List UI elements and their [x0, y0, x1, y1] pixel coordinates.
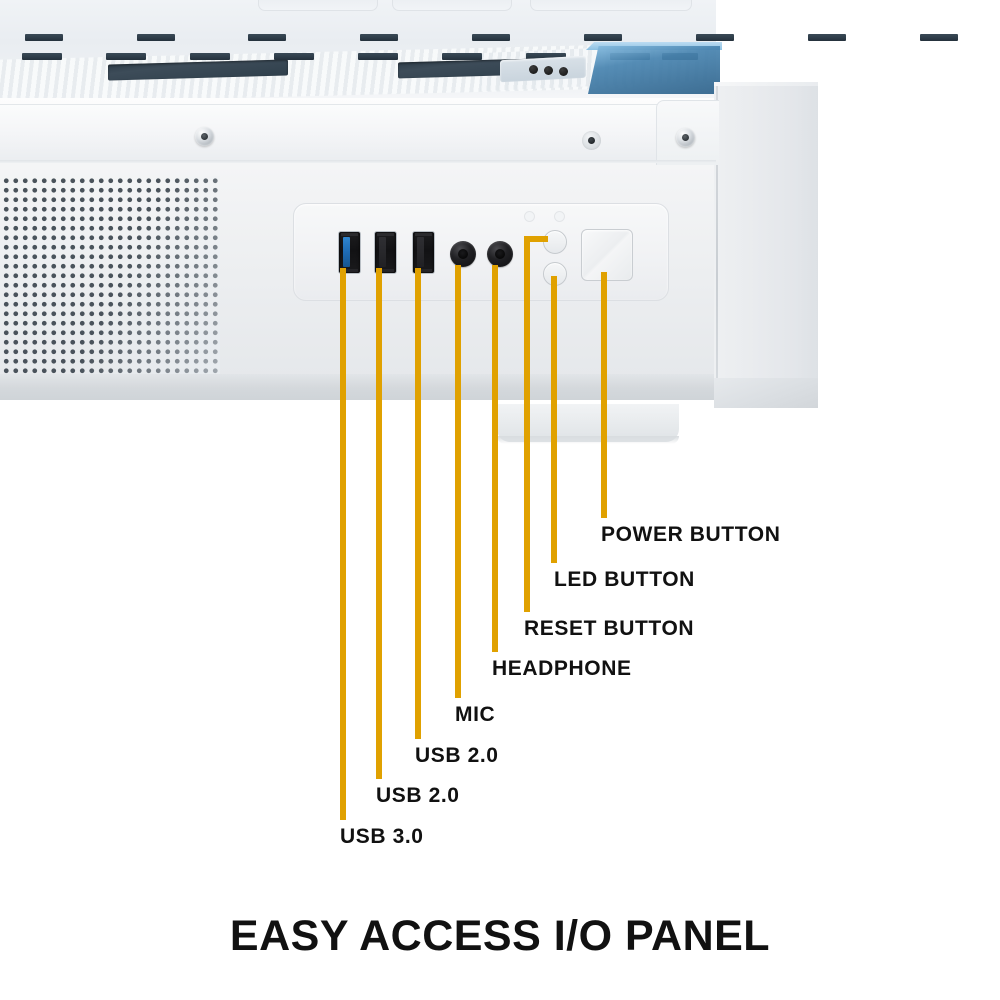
usb-tongue: [417, 237, 424, 267]
vent-dash-icon: [22, 53, 62, 60]
usb-notch-top: [377, 233, 394, 236]
led-indicator-icon: [554, 211, 565, 222]
vent-dash-icon: [358, 53, 398, 60]
page-title: EASY ACCESS I/O PANEL: [0, 912, 1000, 961]
callout-label-mic: MIC: [455, 704, 495, 725]
callout-label-usb-2-0-a: USB 2.0: [376, 785, 460, 806]
connector-dot-icon: [529, 65, 538, 74]
thumbscrew-icon: [195, 127, 214, 146]
leader-line-power-button: [601, 272, 607, 518]
vent-dash-icon: [106, 53, 146, 60]
vent-dash-icon: [808, 34, 846, 41]
case-frame-rail: [0, 104, 716, 163]
vent-dash-icon: [137, 34, 175, 41]
vent-dash-icon: [248, 34, 286, 41]
connector-dot-icon: [559, 67, 568, 76]
case-side-bevel: [714, 378, 818, 408]
leader-line-led-button: [551, 276, 557, 563]
usb-tongue-blue: [343, 237, 350, 267]
perforated-mesh-panel: [0, 176, 220, 374]
vent-dash-icon: [25, 34, 63, 41]
leader-line-usb-3-0: [340, 268, 346, 820]
case-body-bottom-shadow: [0, 374, 720, 400]
callout-label-headphone: HEADPHONE: [492, 658, 632, 679]
blue-tinted-window: [588, 46, 720, 94]
case-frame-rail-edge: [0, 160, 716, 163]
vent-dash-icon: [442, 53, 482, 60]
callout-label-usb-2-0-b: USB 2.0: [415, 745, 499, 766]
callout-label-usb-3-0: USB 3.0: [340, 826, 424, 847]
vent-dash-icon: [584, 34, 622, 41]
usb-tongue: [379, 237, 386, 267]
vent-dash-icon: [360, 34, 398, 41]
headphone-jack[interactable]: [487, 241, 513, 267]
vent-dash-icon: [920, 34, 958, 41]
led-indicator-icon: [524, 211, 535, 222]
usb-notch-top: [341, 233, 358, 236]
mic-jack[interactable]: [450, 241, 476, 267]
reset-button[interactable]: [543, 230, 567, 254]
power-button[interactable]: [581, 229, 633, 281]
vent-dash-icon: [472, 34, 510, 41]
vent-dash-icon: [190, 53, 230, 60]
front-panel-connector-block: [500, 56, 586, 83]
callout-label-led-button: LED BUTTON: [554, 569, 695, 590]
slot-cover-icon: [392, 0, 512, 11]
callout-label-power-button: POWER BUTTON: [601, 524, 780, 545]
leader-line-usb-2-0-a: [376, 268, 382, 779]
leader-line-reset-button: [524, 236, 530, 612]
leader-line-headphone: [492, 265, 498, 652]
leader-line-mic: [455, 265, 461, 698]
connector-dot-icon: [544, 66, 553, 75]
case-side-panel: [714, 86, 818, 406]
vent-dash-icon: [696, 34, 734, 41]
infographic-canvas: POWER BUTTON LED BUTTON RESET BUTTON HEA…: [0, 0, 1000, 1000]
usb-notch-top: [415, 233, 432, 236]
leader-line-usb-2-0-b: [415, 268, 421, 739]
slot-cover-icon: [530, 0, 692, 11]
callout-label-reset-button: RESET BUTTON: [524, 618, 694, 639]
slot-cover-icon: [258, 0, 378, 11]
product-photo-computer-case: [0, 0, 1000, 470]
screw-icon: [582, 131, 601, 150]
thumbscrew-icon: [676, 128, 695, 147]
